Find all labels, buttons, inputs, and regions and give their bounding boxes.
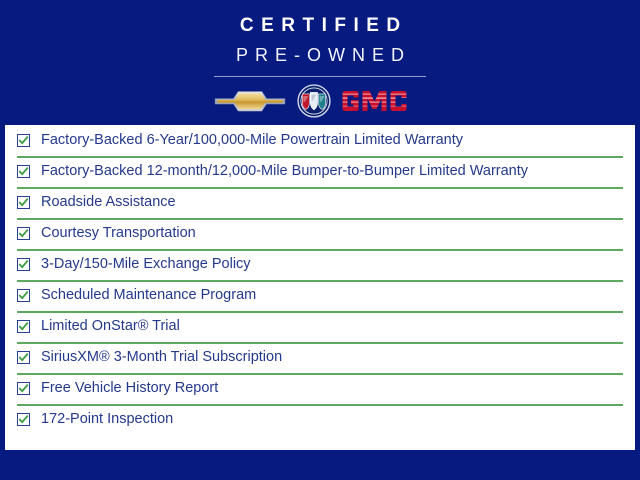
benefit-row: Roadside Assistance — [5, 187, 635, 218]
benefit-label: Scheduled Maintenance Program — [41, 288, 256, 303]
checkmark-icon — [17, 289, 30, 302]
benefit-row: 3-Day/150-Mile Exchange Policy — [5, 249, 635, 280]
gmc-wordmark-logo — [342, 89, 426, 113]
benefits-list: Factory-Backed 6-Year/100,000-Mile Power… — [5, 125, 635, 450]
checkmark-icon — [17, 320, 30, 333]
checkmark-icon — [17, 134, 30, 147]
brand-logo-row — [214, 84, 426, 118]
benefit-label: Courtesy Transportation — [41, 226, 196, 241]
checkmark-icon — [17, 258, 30, 271]
benefit-row: 172-Point Inspection — [5, 404, 635, 435]
page-subtitle: PRE-OWNED — [229, 46, 411, 64]
header-banner: CERTIFIED PRE-OWNED — [0, 0, 640, 125]
benefit-label: Free Vehicle History Report — [41, 381, 218, 396]
checkmark-icon — [17, 196, 30, 209]
checkmark-icon — [17, 382, 30, 395]
footer-band — [0, 450, 640, 480]
benefit-row: Factory-Backed 12-month/12,000-Mile Bump… — [5, 156, 635, 187]
checkmark-icon — [17, 413, 30, 426]
checkmark-icon — [17, 351, 30, 364]
benefit-label: 172-Point Inspection — [41, 412, 173, 427]
benefit-row: SiriusXM® 3-Month Trial Subscription — [5, 342, 635, 373]
benefit-label: Limited OnStar® Trial — [41, 319, 180, 334]
benefit-row: Free Vehicle History Report — [5, 373, 635, 404]
right-blue-rail — [635, 125, 640, 450]
buick-trishield-logo — [297, 84, 331, 118]
certified-pre-owned-panel: CERTIFIED PRE-OWNED — [0, 0, 640, 480]
benefit-row: Limited OnStar® Trial — [5, 311, 635, 342]
page-title: CERTIFIED — [232, 16, 407, 35]
chevrolet-bowtie-logo — [214, 88, 286, 114]
benefit-label: 3-Day/150-Mile Exchange Policy — [41, 257, 251, 272]
benefit-label: Factory-Backed 6-Year/100,000-Mile Power… — [41, 133, 463, 148]
benefit-label: Factory-Backed 12-month/12,000-Mile Bump… — [41, 164, 528, 179]
header-divider — [214, 76, 426, 77]
benefit-row: Scheduled Maintenance Program — [5, 280, 635, 311]
checkmark-icon — [17, 227, 30, 240]
benefit-label: Roadside Assistance — [41, 195, 176, 210]
benefit-row: Courtesy Transportation — [5, 218, 635, 249]
benefit-row: Factory-Backed 6-Year/100,000-Mile Power… — [5, 125, 635, 156]
checkmark-icon — [17, 165, 30, 178]
benefit-label: SiriusXM® 3-Month Trial Subscription — [41, 350, 282, 365]
